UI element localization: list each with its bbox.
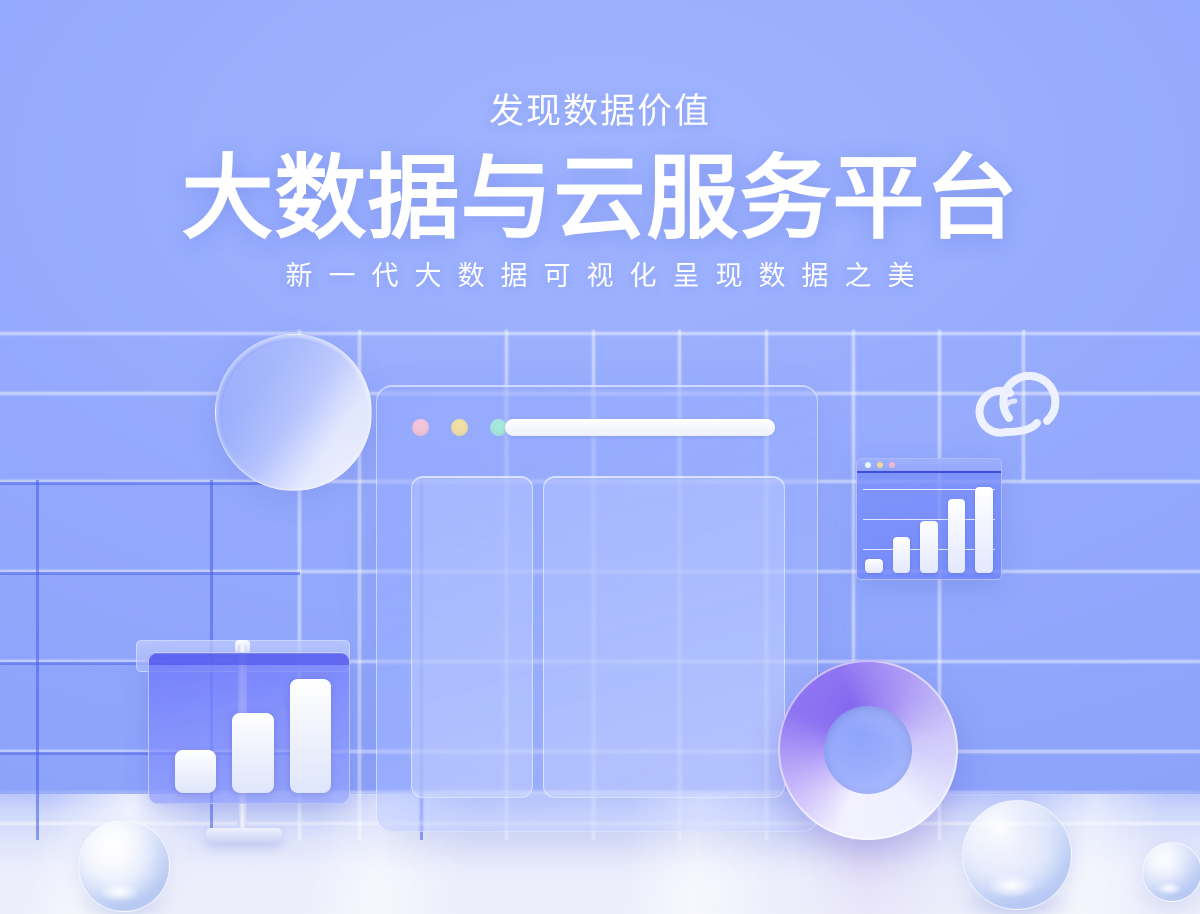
bar-chart-window[interactable] (856, 458, 1002, 580)
chart-window-titlebar (857, 459, 1001, 473)
chart-bar (920, 521, 938, 573)
window-traffic-lights (412, 419, 507, 436)
minimize-dot-icon[interactable] (451, 419, 468, 436)
glass-sphere-left (78, 820, 170, 912)
monitor-chart-bars (175, 679, 331, 793)
hero-text-block: 发现数据价值 大数据与云服务平台 新一代大数据可视化呈现数据之美 (0, 0, 1200, 290)
chart-bar (893, 537, 911, 573)
chart-bar (232, 713, 273, 793)
sidebar-panel[interactable] (411, 476, 533, 798)
chart-bar (865, 559, 883, 573)
glass-sphere-corner (1142, 842, 1200, 902)
close-dot-icon[interactable] (865, 462, 871, 468)
chart-bar (290, 679, 331, 793)
hero-banner: 发现数据价值 大数据与云服务平台 新一代大数据可视化呈现数据之美 (0, 0, 1200, 914)
chart-bars (865, 483, 993, 573)
chart-bar (948, 499, 966, 573)
chart-bar (175, 750, 216, 793)
monitor-screen-header (149, 653, 349, 665)
chart-bar (975, 487, 993, 573)
monitor-stand-base (206, 828, 282, 844)
page-title: 大数据与云服务平台 (0, 153, 1200, 245)
monitor-bar-chart (130, 630, 355, 865)
monitor-screen (148, 652, 350, 804)
chart-plot-area (857, 475, 1001, 579)
close-dot-icon[interactable] (412, 419, 429, 436)
maximize-dot-icon[interactable] (889, 462, 895, 468)
address-bar-input[interactable] (505, 419, 775, 436)
glass-disc (215, 334, 372, 491)
glass-browser-window[interactable] (376, 385, 818, 832)
hero-subtitle: 新一代大数据可视化呈现数据之美 (0, 263, 1200, 290)
glass-torus (778, 660, 958, 840)
hero-eyebrow: 发现数据价值 (0, 94, 1200, 129)
cloud-icon (975, 360, 1070, 445)
content-panel[interactable] (543, 476, 785, 798)
glass-sphere-right (962, 800, 1072, 910)
minimize-dot-icon[interactable] (877, 462, 883, 468)
